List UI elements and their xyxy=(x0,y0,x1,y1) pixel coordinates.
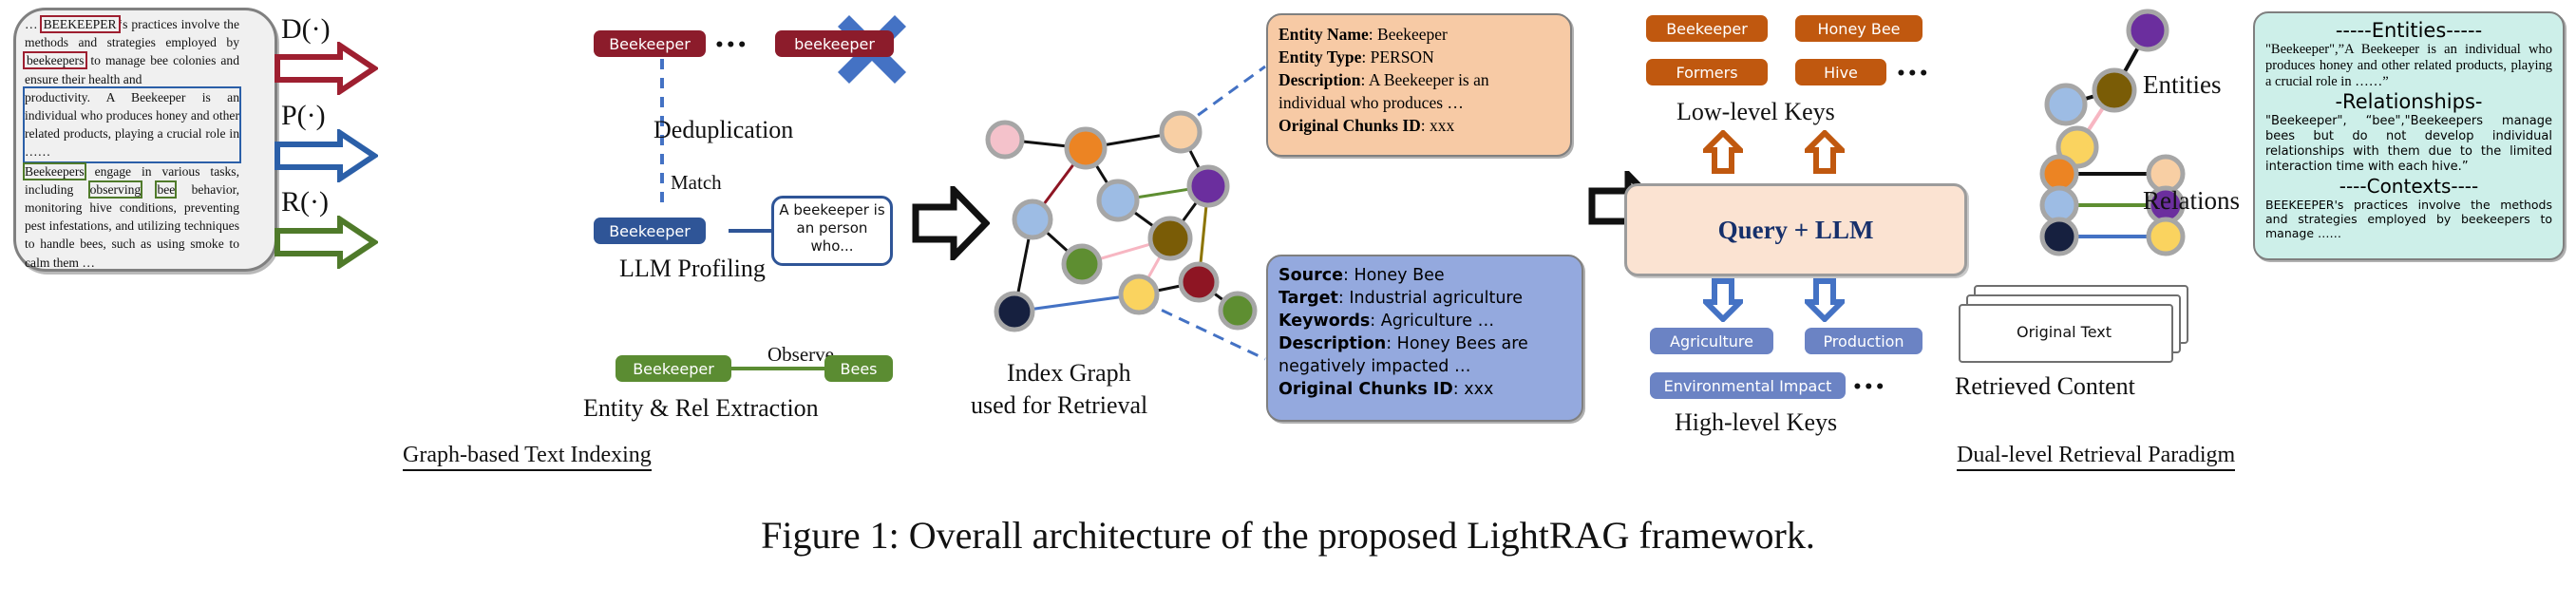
relation-val-0: Honey Bee xyxy=(1349,266,1445,285)
extract-arrow-icon xyxy=(274,216,378,269)
llm-profiling-caption: LLM Profiling xyxy=(619,255,766,283)
graph-edge xyxy=(1086,132,1181,148)
retrieved-content-caption: Retrieved Content xyxy=(1955,372,2135,401)
chip-high-key-0[interactable]: Agriculture xyxy=(1650,328,1773,354)
chip-beekeeper-kept[interactable]: Beekeeper xyxy=(594,30,706,57)
entities-label: Entities xyxy=(2143,70,2222,100)
index-graph-caption-2: used for Retrieval xyxy=(971,391,1147,420)
graph-edge xyxy=(1086,148,1118,200)
chip-high-key-1[interactable]: Production xyxy=(1805,328,1923,354)
graph-edge xyxy=(1032,219,1082,264)
retrieved-result-card: -----Entities----- "Beekeeper",”A Beekee… xyxy=(2253,11,2565,260)
retrieved-entity-edge xyxy=(2077,90,2114,147)
high-keys-down-arrow-1-icon xyxy=(1703,278,1743,322)
graph-edge xyxy=(1118,200,1170,238)
extract-operator-symbol: R(·) xyxy=(281,186,329,218)
relation-key-3: Description xyxy=(1279,334,1386,353)
retrieved-entity-node[interactable] xyxy=(2094,70,2134,110)
entity-key-2: Description xyxy=(1279,70,1361,89)
high-keys-ellipsis: ••• xyxy=(1852,378,1886,397)
doc-entity-beekeepers-2: Beekeepers xyxy=(25,164,85,179)
retrieved-relation-node[interactable] xyxy=(2042,219,2076,254)
figure-caption: Figure 1: Overall architecture of the pr… xyxy=(0,513,2576,558)
doc-p1-pre: … xyxy=(25,17,42,31)
retrieved-relation-node[interactable] xyxy=(2042,157,2076,191)
chip-beekeeper-removed[interactable]: beekeeper xyxy=(775,30,894,57)
entity-val-0: Beekeeper xyxy=(1373,25,1448,44)
lightrag-architecture-figure: … BEEKEEPER‘s practices involve the meth… xyxy=(0,0,2576,606)
graph-node[interactable] xyxy=(1181,264,1217,300)
doc-relation-observing: observing xyxy=(90,182,142,197)
profile-arrow-icon xyxy=(274,129,378,182)
graph-node[interactable] xyxy=(1121,276,1157,312)
result-contexts-body: BEEKEEPER's practices involve the method… xyxy=(2265,198,2552,240)
original-text-label: Original Text xyxy=(1959,304,2169,359)
low-keys-ellipsis: ••• xyxy=(1896,65,1930,84)
graph-edge xyxy=(1139,282,1199,294)
entity-row: Original Chunks ID: xxx xyxy=(1279,114,1560,137)
low-keys-up-arrow-1-icon xyxy=(1703,130,1743,174)
chip-beekeeper-profiled[interactable]: Beekeeper xyxy=(594,218,706,244)
graph-edge xyxy=(1032,148,1086,219)
low-level-keys-caption: Low-level Keys xyxy=(1676,98,1835,126)
chip-high-key-2[interactable]: Environmental Impact xyxy=(1650,372,1846,399)
match-label: Match xyxy=(671,171,722,195)
relation-row: Description: Honey Bees are negatively i… xyxy=(1279,332,1571,378)
doc-p3-d xyxy=(141,182,157,197)
chip-entity-beekeeper[interactable]: Beekeeper xyxy=(616,355,731,382)
relations-label: Relations xyxy=(2143,186,2240,216)
graph-node[interactable] xyxy=(1189,167,1227,205)
graph-edge xyxy=(1199,282,1238,311)
result-entities-header: -----Entities----- xyxy=(2265,19,2552,42)
entity-row: Description: A Beekeeper is an individua… xyxy=(1279,68,1560,114)
graph-edge xyxy=(1014,219,1032,312)
entity-rel-extraction-caption: Entity & Rel Extraction xyxy=(583,394,819,423)
graph-edge xyxy=(1014,294,1139,312)
dedup-arrow-icon xyxy=(274,42,378,95)
retrieved-entity-node[interactable] xyxy=(2129,11,2167,49)
entity-key-1: Entity Type xyxy=(1279,47,1361,66)
profile-operator-symbol: P(·) xyxy=(281,100,326,132)
graph-node[interactable] xyxy=(1067,129,1105,167)
dual-level-retrieval-title: Dual-level Retrieval Paradigm xyxy=(1957,443,2235,471)
graph-edge xyxy=(1199,186,1208,282)
dedup-operator-symbol: D(·) xyxy=(281,13,331,46)
relation-row: Keywords: Agriculture … xyxy=(1279,310,1571,332)
result-contexts-header: ----Contexts---- xyxy=(2265,175,2552,198)
graph-node[interactable] xyxy=(1099,181,1137,219)
relation-detail-card: Source: Honey Bee Target: Industrial agr… xyxy=(1266,255,1583,422)
retrieved-entity-node[interactable] xyxy=(2058,128,2096,166)
doc-entity-bee: bee xyxy=(157,182,175,197)
retrieved-relation-node[interactable] xyxy=(2149,219,2183,254)
relation-key-4: Original Chunks ID xyxy=(1279,380,1453,399)
index-graph-caption-1: Index Graph xyxy=(1007,359,1131,388)
retrieved-entity-edge xyxy=(2066,90,2114,104)
deduplication-caption: Deduplication xyxy=(653,116,793,144)
retrieved-entity-node[interactable] xyxy=(2047,85,2085,123)
graph-edge xyxy=(1139,238,1170,294)
graph-node[interactable] xyxy=(1150,218,1190,258)
relation-val-1: Industrial agriculture xyxy=(1344,289,1523,308)
graph-edge xyxy=(1082,238,1170,264)
relation-row: Target: Industrial agriculture xyxy=(1279,287,1571,310)
indexing-to-graph-arrow-icon xyxy=(912,186,990,260)
graph-node[interactable] xyxy=(1064,246,1100,282)
graph-edge xyxy=(1005,140,1086,148)
relation-key-0: Source xyxy=(1279,266,1343,285)
entity-row: Entity Name: Beekeeper xyxy=(1279,23,1560,46)
graph-node[interactable] xyxy=(988,123,1022,157)
relation-val-4: xxx xyxy=(1459,380,1494,399)
result-relationships-body: "Beekeeper", “bee","Beekeepers manage be… xyxy=(2265,114,2552,175)
graph-node[interactable] xyxy=(996,294,1032,330)
chip-entity-bees[interactable]: Bees xyxy=(824,355,893,382)
entity-detail-card: Entity Name: Beekeeper Entity Type: PERS… xyxy=(1266,13,1572,157)
relation-row: Source: Honey Bee xyxy=(1279,264,1571,287)
doc-entity-beekeeper-upper: BEEKEEPER xyxy=(42,17,119,31)
entity-val-1: PERSON xyxy=(1366,47,1433,66)
entity-val-3: xxx xyxy=(1426,116,1455,135)
high-keys-down-arrow-2-icon xyxy=(1805,278,1845,322)
entity-row: Entity Type: PERSON xyxy=(1279,46,1560,68)
dedup-ellipsis: ••• xyxy=(714,36,748,55)
doc-entity-beekeepers-1: beekeepers xyxy=(25,53,85,67)
low-keys-up-arrow-2-icon xyxy=(1805,130,1845,174)
result-relationships-header: -Relationships- xyxy=(2265,90,2552,114)
graph-node[interactable] xyxy=(1221,294,1255,328)
query-llm-box[interactable]: Query + LLM xyxy=(1624,183,1967,276)
graph-node[interactable] xyxy=(1014,201,1051,237)
chip-low-key-0[interactable]: Beekeeper xyxy=(1646,15,1768,42)
graph-edge xyxy=(1118,186,1208,200)
graph-based-text-indexing-title: Graph-based Text Indexing xyxy=(403,443,652,471)
graph-node[interactable] xyxy=(1162,113,1200,151)
relation-row: Original Chunks ID: xxx xyxy=(1279,378,1571,401)
graph-edge xyxy=(1181,132,1208,186)
relation-key-2: Keywords xyxy=(1279,312,1370,331)
relation-val-2: Agriculture … xyxy=(1375,312,1494,331)
result-entities-body: "Beekeeper",”A Beekeeper is an individua… xyxy=(2265,42,2552,90)
entity-key-3: Original Chunks ID xyxy=(1279,116,1421,135)
source-document-text: … BEEKEEPER‘s practices involve the meth… xyxy=(25,15,239,251)
llm-profile-bubble: A beekeeper is an person who... xyxy=(771,196,893,266)
chip-low-key-2[interactable]: Formers xyxy=(1646,59,1768,85)
doc-profile-span: productivity. A Beekeeper is an individu… xyxy=(25,88,239,161)
retrieved-relation-node[interactable] xyxy=(2042,188,2076,222)
high-level-keys-caption: High-level Keys xyxy=(1675,408,1837,437)
relation-key-1: Target xyxy=(1279,289,1338,308)
chip-low-key-3[interactable]: Hive xyxy=(1795,59,1886,85)
graph-edge xyxy=(1170,186,1208,238)
chip-low-key-1[interactable]: Honey Bee xyxy=(1795,15,1923,42)
entity-key-0: Entity Name xyxy=(1279,25,1369,44)
